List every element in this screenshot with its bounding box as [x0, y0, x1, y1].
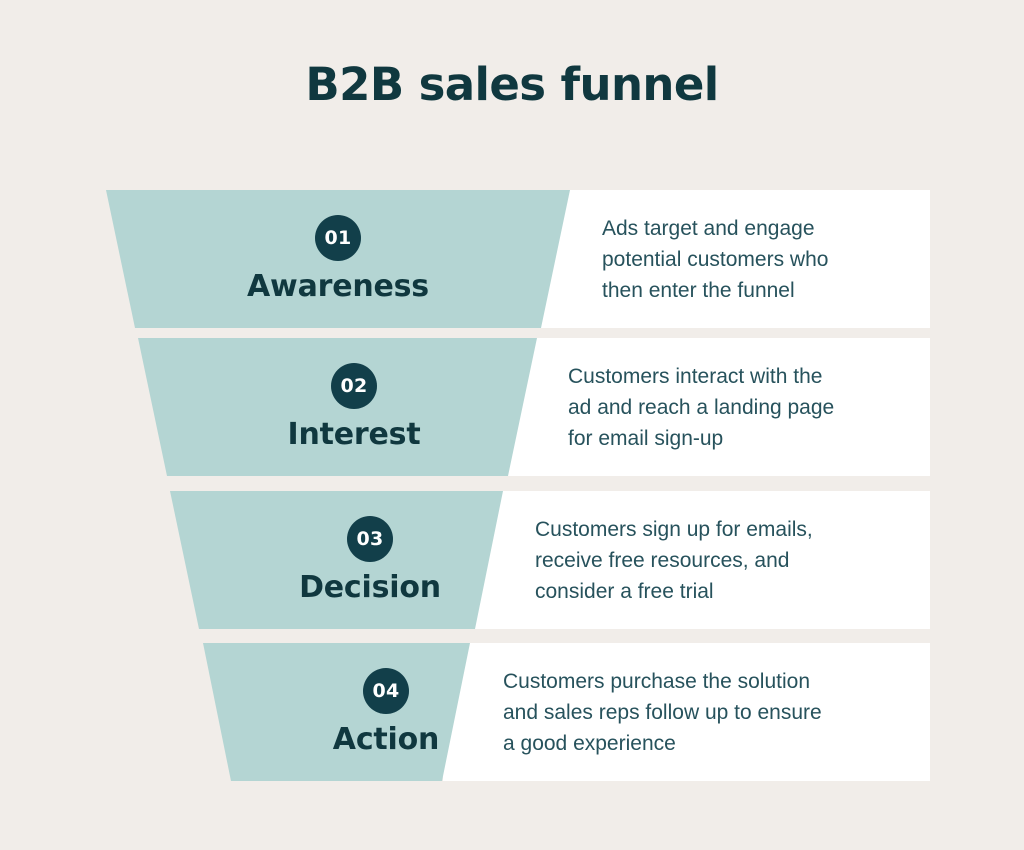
funnel-stage-row: 02 Interest Customers interact with the … — [0, 338, 1024, 476]
funnel-stage-2[interactable]: 02 Interest — [138, 338, 570, 476]
description-line: Customers purchase the solution — [503, 666, 822, 697]
stage-description: Ads target and engage potential customer… — [602, 190, 828, 328]
funnel-stage-1[interactable]: 01 Awareness — [106, 190, 570, 328]
stage-label: Awareness — [247, 269, 429, 304]
funnel-stage-row: 01 Awareness Ads target and engage poten… — [0, 190, 1024, 328]
description-line: a good experience — [503, 728, 822, 759]
stage-description: Customers purchase the solution and sale… — [503, 643, 822, 781]
description-line: Customers sign up for emails, — [535, 514, 813, 545]
description-line: for email sign-up — [568, 423, 834, 454]
stage-number-badge: 01 — [315, 215, 361, 261]
page-title: B2B sales funnel — [0, 58, 1024, 111]
stage-number-badge: 02 — [331, 363, 377, 409]
stage-label: Interest — [288, 417, 421, 452]
funnel-infographic: B2B sales funnel 01 Awareness Ads target… — [0, 0, 1024, 850]
description-line: then enter the funnel — [602, 275, 828, 306]
description-line: Ads target and engage — [602, 213, 828, 244]
description-line: receive free resources, and — [535, 545, 813, 576]
funnel-diagram: 01 Awareness Ads target and engage poten… — [0, 190, 1024, 790]
description-line: and sales reps follow up to ensure — [503, 697, 822, 728]
stage-number-badge: 04 — [363, 668, 409, 714]
funnel-stage-3[interactable]: 03 Decision — [170, 491, 570, 629]
description-line: potential customers who — [602, 244, 828, 275]
description-line: ad and reach a landing page — [568, 392, 834, 423]
funnel-stage-row: 04 Action Customers purchase the solutio… — [0, 643, 1024, 781]
description-line: consider a free trial — [535, 576, 813, 607]
stage-description: Customers interact with the ad and reach… — [568, 338, 834, 476]
stage-label: Action — [333, 722, 439, 757]
stage-label: Decision — [299, 570, 441, 605]
stage-number-badge: 03 — [347, 516, 393, 562]
funnel-stage-row: 03 Decision Customers sign up for emails… — [0, 491, 1024, 629]
description-line: Customers interact with the — [568, 361, 834, 392]
stage-description: Customers sign up for emails, receive fr… — [535, 491, 813, 629]
